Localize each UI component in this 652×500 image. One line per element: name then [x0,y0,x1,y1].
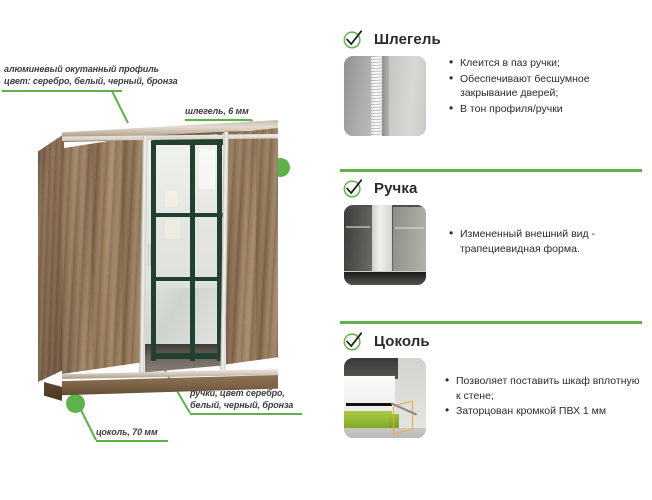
feature-title-plinth: Цоколь [374,333,430,350]
features-pane: Шлегель Клеится в паз ручки; Обеспечиваю… [330,0,652,500]
mirror-frame-left [151,137,156,361]
wardrobe-door-right [226,128,278,368]
mirror-frame-rail-2 [151,277,223,281]
section-separator-2 [340,321,642,324]
mirror-frame-top [151,139,223,145]
check-circle-icon [342,330,364,352]
feature-thumbnail-plinth[interactable] [344,358,426,438]
thumb-handle-profile [372,205,392,275]
bullet-item: В тон профиля/ручки [460,102,644,117]
thumb-plinth-slot [346,403,392,406]
wardrobe-mirror-door [145,131,225,376]
bullet-item: Клеится в паз ручки; [460,56,644,71]
feature-body-shlegel: Клеится в паз ручки; Обеспечивают бесшум… [330,56,652,136]
thumb-handle-line-left [346,226,371,228]
check-circle-icon [342,28,364,50]
feature-card-handle: Ручка Измененный внешний вид - трапециев… [330,177,652,285]
mirror-frame-bottom [151,353,223,359]
thumb-plinth-cabinet [344,376,395,413]
wardrobe-plinth-side [44,382,62,404]
thumb-plinth-floor [344,428,426,438]
bullet-item: Заторцован кромкой ПВХ 1 мм [456,404,644,419]
thumb-handle-right-door [393,207,426,271]
feature-title-shlegel: Шлегель [374,31,441,48]
wardrobe-door-left [62,134,144,374]
thumb-handle-line-right [395,227,425,229]
thumb-handle-floor [344,272,426,285]
feature-bullets-plinth: Позволяет поставить шкаф вплотную к стен… [426,358,652,420]
feature-card-shlegel: Шлегель Клеится в паз ручки; Обеспечиваю… [330,28,652,136]
bullet-item: Обеспечивают бесшумное закрывание дверей… [460,72,644,101]
slide-root: алюминевый окутанный профиль цвет: сереб… [0,0,652,500]
mirror-highlight-1 [199,149,215,189]
thumb-shlegel-right-panel [389,56,426,136]
mirror-highlight-2 [165,191,178,207]
check-circle-icon [342,177,364,199]
wardrobe-side-panel [38,134,64,382]
thumb-plinth-green-base [344,411,392,430]
thumb-handle-left-door [344,207,372,271]
mirror-frame-rail-1 [151,213,223,217]
feature-card-plinth: Цоколь Позволяет поставить шкаф вплотную… [330,330,652,438]
feature-thumbnail-handle[interactable] [344,205,426,285]
mirror-frame-middle [190,135,195,361]
bullet-item: Позволяет поставить шкаф вплотную к стен… [456,374,644,403]
section-separator-1 [340,169,642,172]
mirror-door-handle [148,244,151,266]
feature-header-plinth: Цоколь [330,330,652,352]
thumb-shlegel-left-panel [344,56,374,136]
feature-header-handle: Ручка [330,177,652,199]
product-illustration-pane: алюминевый окутанный профиль цвет: сереб… [0,0,330,500]
feature-thumbnail-shlegel[interactable] [344,56,426,136]
mirror-highlight-3 [165,219,180,239]
feature-body-plinth: Позволяет поставить шкаф вплотную к стен… [330,358,652,438]
feature-title-handle: Ручка [374,180,417,197]
callout-profile-line1: алюминевый окутанный профиль [4,64,159,76]
feature-header-shlegel: Шлегель [330,28,652,50]
feature-body-handle: Измененный внешний вид - трапециевидная … [330,205,652,285]
feature-bullets-shlegel: Клеится в паз ручки; Обеспечивают бесшум… [426,56,652,117]
wardrobe-graphic [38,120,278,405]
bullet-item: Измененный внешний вид - трапециевидная … [460,227,644,256]
feature-bullets-handle: Измененный внешний вид - трапециевидная … [426,205,652,257]
